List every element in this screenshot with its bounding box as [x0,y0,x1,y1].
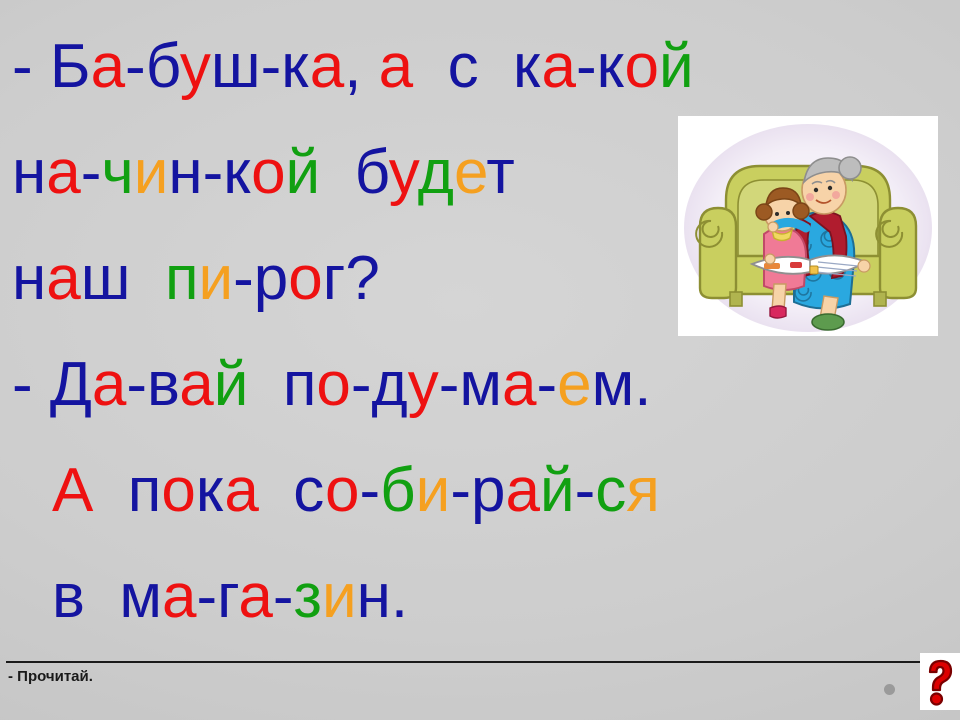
text-run: а [502,350,536,419]
text-run [320,138,354,207]
text-run: с [595,456,626,525]
text-run: б [355,138,389,207]
text-run: з [294,562,322,631]
text-run: й [540,456,575,525]
text-run: , [344,32,378,101]
text-run: в [52,562,85,631]
text-run: а [224,456,258,525]
text-run: и [134,138,169,207]
text-run: - [12,350,50,419]
text-run: о [316,350,350,419]
text-run: а [379,32,413,101]
text-run: - [536,350,557,419]
text-run: у [389,138,418,207]
text-run: п [248,350,316,419]
text-run: е [454,138,486,207]
text-run: й [286,138,321,207]
text-run: - [273,562,294,631]
text-run: а [310,32,344,101]
footer-divider [6,661,954,663]
text-run: н. [357,562,408,631]
text-run: - [360,456,381,525]
text-run: а [46,138,80,207]
help-button[interactable] [920,653,960,710]
text-run: м. [592,350,652,419]
text-run: -д [351,350,408,419]
text-run: -б [125,32,180,101]
text-run: й [214,350,249,419]
text-line-1: - Ба-буш-ка, а с ка-кой [0,14,960,120]
text-run: а [91,32,125,101]
text-run: о [325,456,359,525]
text-run: о [625,32,659,101]
text-run: с [259,456,325,525]
text-run: н-к [168,138,251,207]
text-run: - [81,138,102,207]
text-run: ш [81,244,131,313]
text-run: н [12,138,46,207]
text-run: - [575,456,596,525]
text-run: у [180,32,211,101]
text-run: й [659,32,694,101]
text-run: а [162,562,196,631]
text-run: у [408,350,439,419]
footer-note: - Прочитай. [8,668,93,685]
text-run: д [418,138,454,207]
text-run: а [505,456,539,525]
text-run: е [557,350,591,419]
text-run: а [238,562,272,631]
text-run: и [416,456,451,525]
question-mark-icon [924,657,956,707]
text-run: ш-к [211,32,310,101]
text-run: а [92,350,126,419]
text-run: -г [197,562,239,631]
text-run: а [542,32,576,101]
text-run: -р [450,456,505,525]
text-line-4: - Да-вай по-ду-ма-ем. [0,332,960,438]
text-run: А [52,456,93,525]
text-run: б [380,456,416,525]
text-run: о [161,456,195,525]
text-run: Б [50,32,91,101]
text-run: ч [101,138,133,207]
text-run: а [46,244,80,313]
text-run: н [12,244,46,313]
text-run: - [12,32,50,101]
text-run: к [196,456,225,525]
text-line-6: в ма-га-зин. [0,544,960,650]
text-run: к [479,32,542,101]
text-run: -в [126,350,179,419]
text-run: м [85,562,162,631]
text-run: п [165,244,199,313]
text-run: т [486,138,514,207]
text-run: и [199,244,234,313]
text-line-5: А пока со-би-рай-ся [0,438,960,544]
text-run [413,32,447,101]
text-run: г? [323,244,380,313]
text-run: п [93,456,161,525]
text-run: Д [50,350,92,419]
text-run: я [626,456,660,525]
text-run: -м [439,350,502,419]
text-run [130,244,164,313]
slide-canvas: - Ба-буш-ка, а с ка-койна-чин-кой будетн… [0,0,960,720]
text-run: с [448,32,479,101]
text-run: -к [576,32,624,101]
text-run: и [322,562,357,631]
text-run: о [251,138,285,207]
text-run: -р [233,244,288,313]
text-run: о [288,244,322,313]
slide-bullet-dot [884,684,895,695]
text-run: а [179,350,213,419]
illustration-grandmother-and-girl [678,116,938,336]
